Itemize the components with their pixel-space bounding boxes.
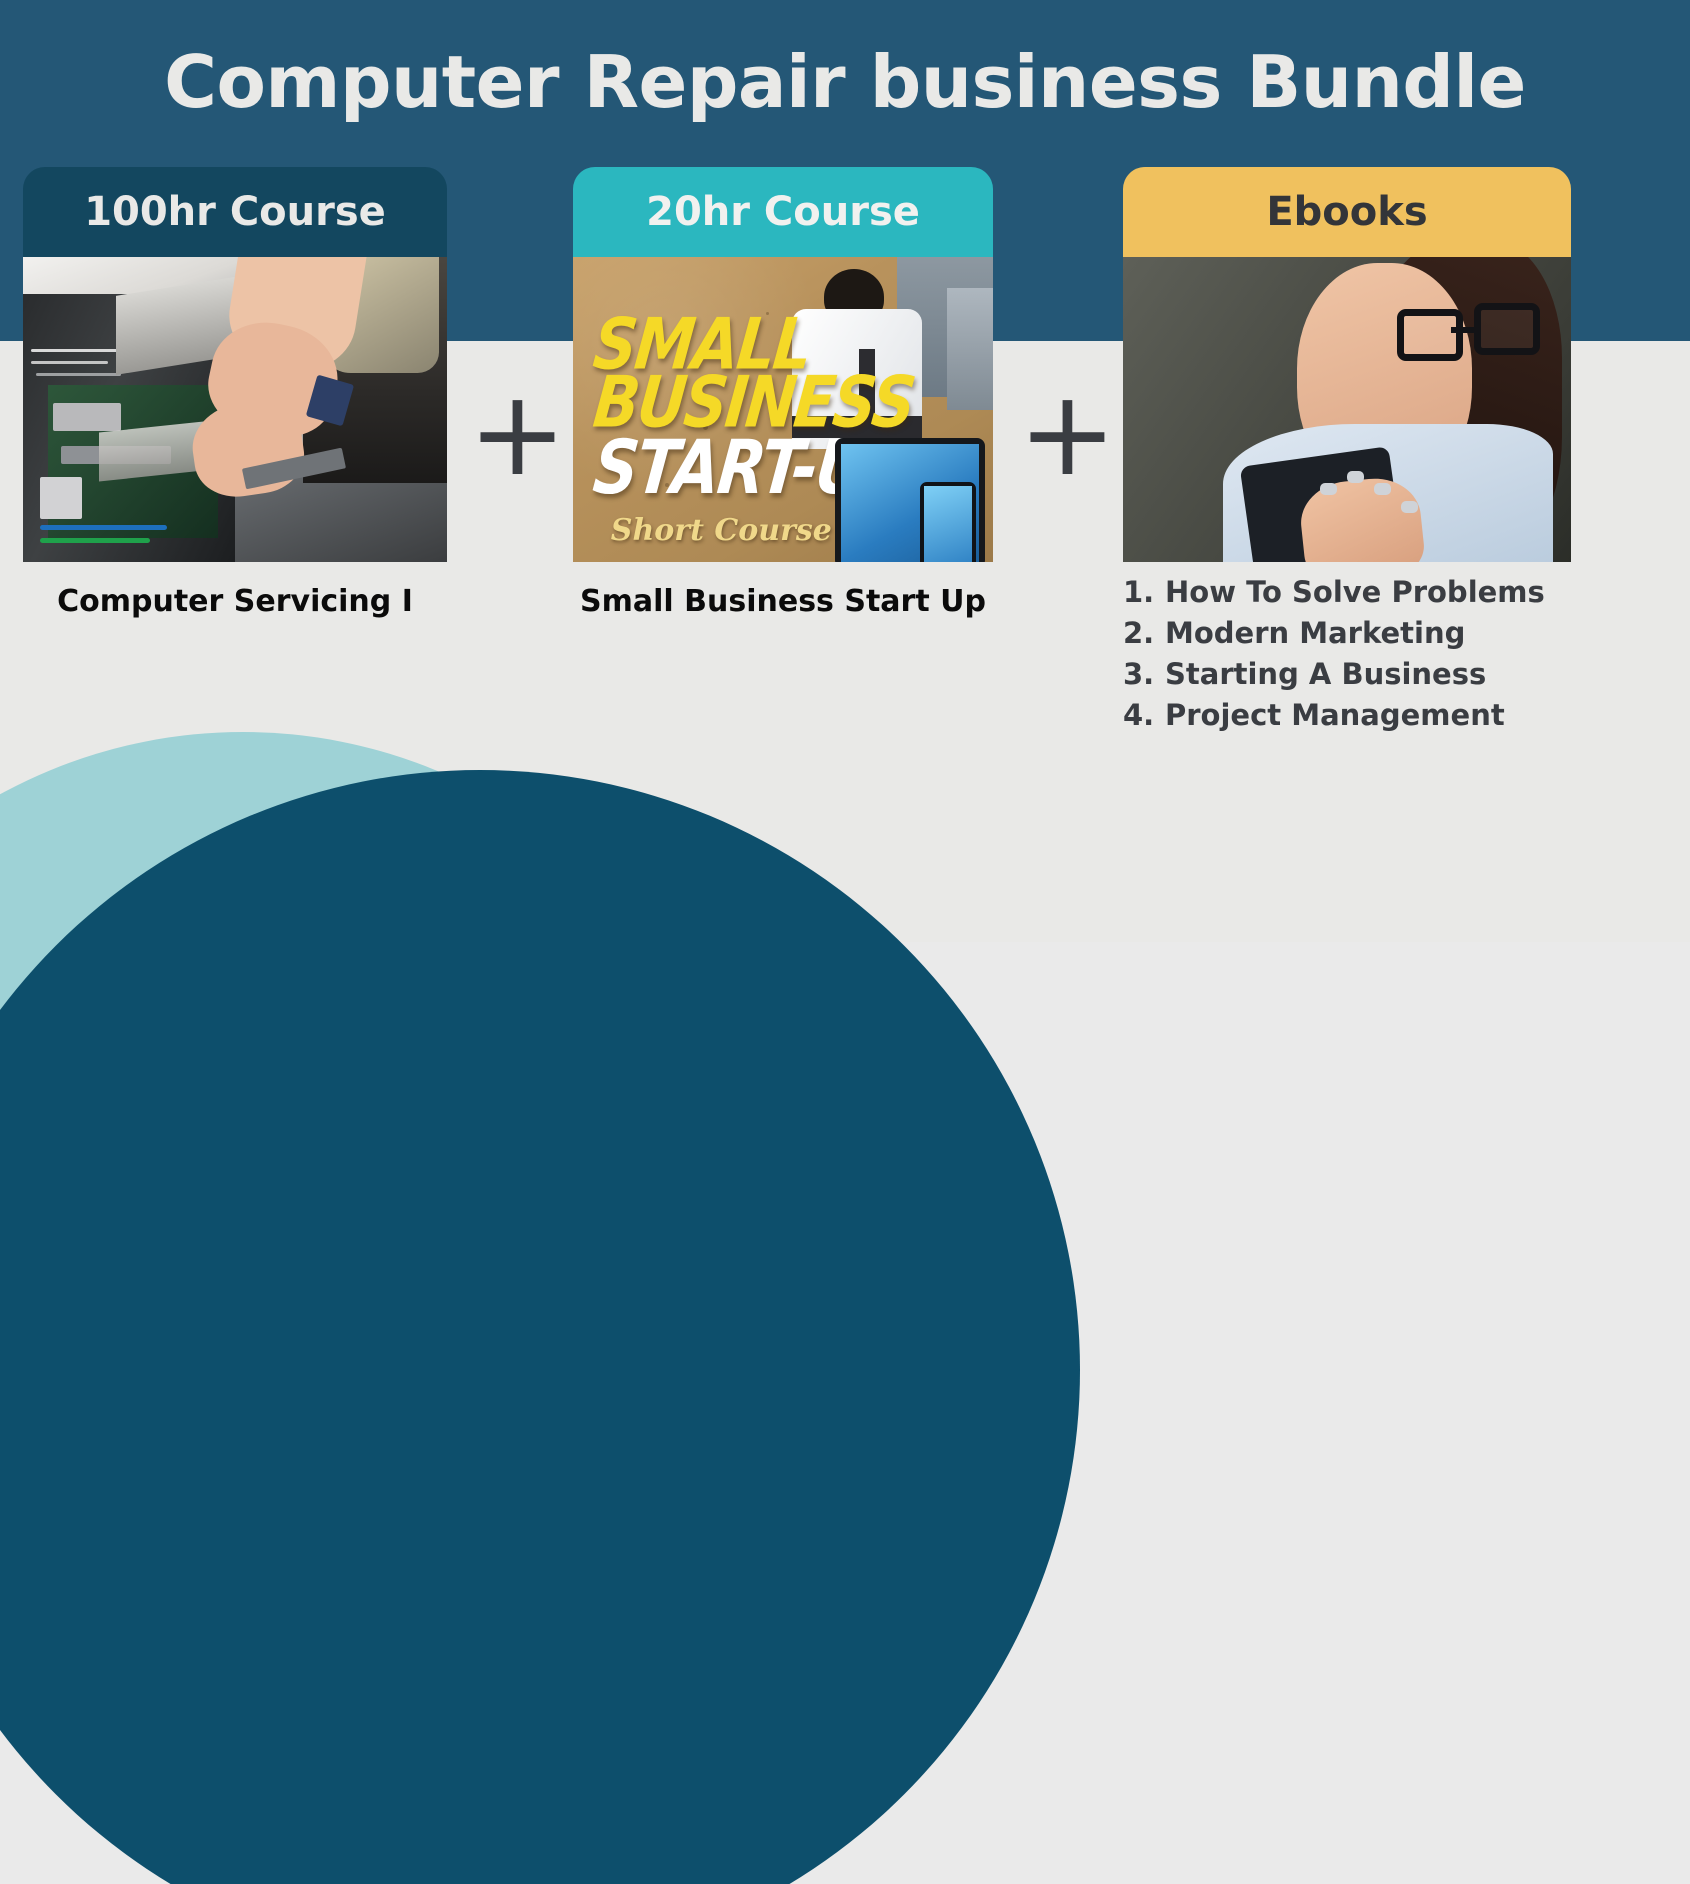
computer-repair-photo	[23, 257, 447, 562]
list-item: 3. Starting A Business	[1123, 654, 1593, 695]
plus-icon: +	[468, 392, 567, 475]
list-item: 2. Modern Marketing	[1123, 613, 1593, 654]
book-cover-line4: Short Course	[611, 513, 832, 548]
bundle-card-ebooks: Ebooks	[1123, 167, 1571, 562]
bundle-card-100hr-course: 100hr Course	[23, 167, 447, 619]
ebook-title: Starting A Business	[1165, 654, 1486, 695]
ebooks-list: 1. How To Solve Problems 2. Modern Marke…	[1123, 572, 1593, 736]
ebook-title: How To Solve Problems	[1165, 572, 1545, 613]
card-header-100hr: 100hr Course	[23, 167, 447, 257]
bundle-card-20hr-course: 20hr Course SMALL BUSINESS START-UP Sho	[573, 167, 993, 619]
card-caption-small-business: Small Business Start Up	[573, 584, 993, 619]
page-title: Computer Repair business Bundle	[0, 40, 1690, 124]
ebook-number: 2.	[1123, 613, 1165, 654]
ebook-number: 4.	[1123, 695, 1165, 736]
ebook-number: 3.	[1123, 654, 1165, 695]
card-header-20hr: 20hr Course	[573, 167, 993, 257]
poster: Computer Repair business Bundle 100hr Co…	[0, 0, 1690, 942]
ebook-title: Project Management	[1165, 695, 1505, 736]
ebook-title: Modern Marketing	[1165, 613, 1465, 654]
plus-icon: +	[1018, 392, 1117, 475]
card-header-ebooks: Ebooks	[1123, 167, 1571, 257]
woman-reading-tablet-photo	[1123, 257, 1571, 562]
small-business-startup-book-cover: SMALL BUSINESS START-UP Short Course	[573, 257, 993, 562]
list-item: 1. How To Solve Problems	[1123, 572, 1593, 613]
card-caption-computer-servicing: Computer Servicing I	[23, 584, 447, 619]
ebook-number: 1.	[1123, 572, 1165, 613]
list-item: 4. Project Management	[1123, 695, 1593, 736]
